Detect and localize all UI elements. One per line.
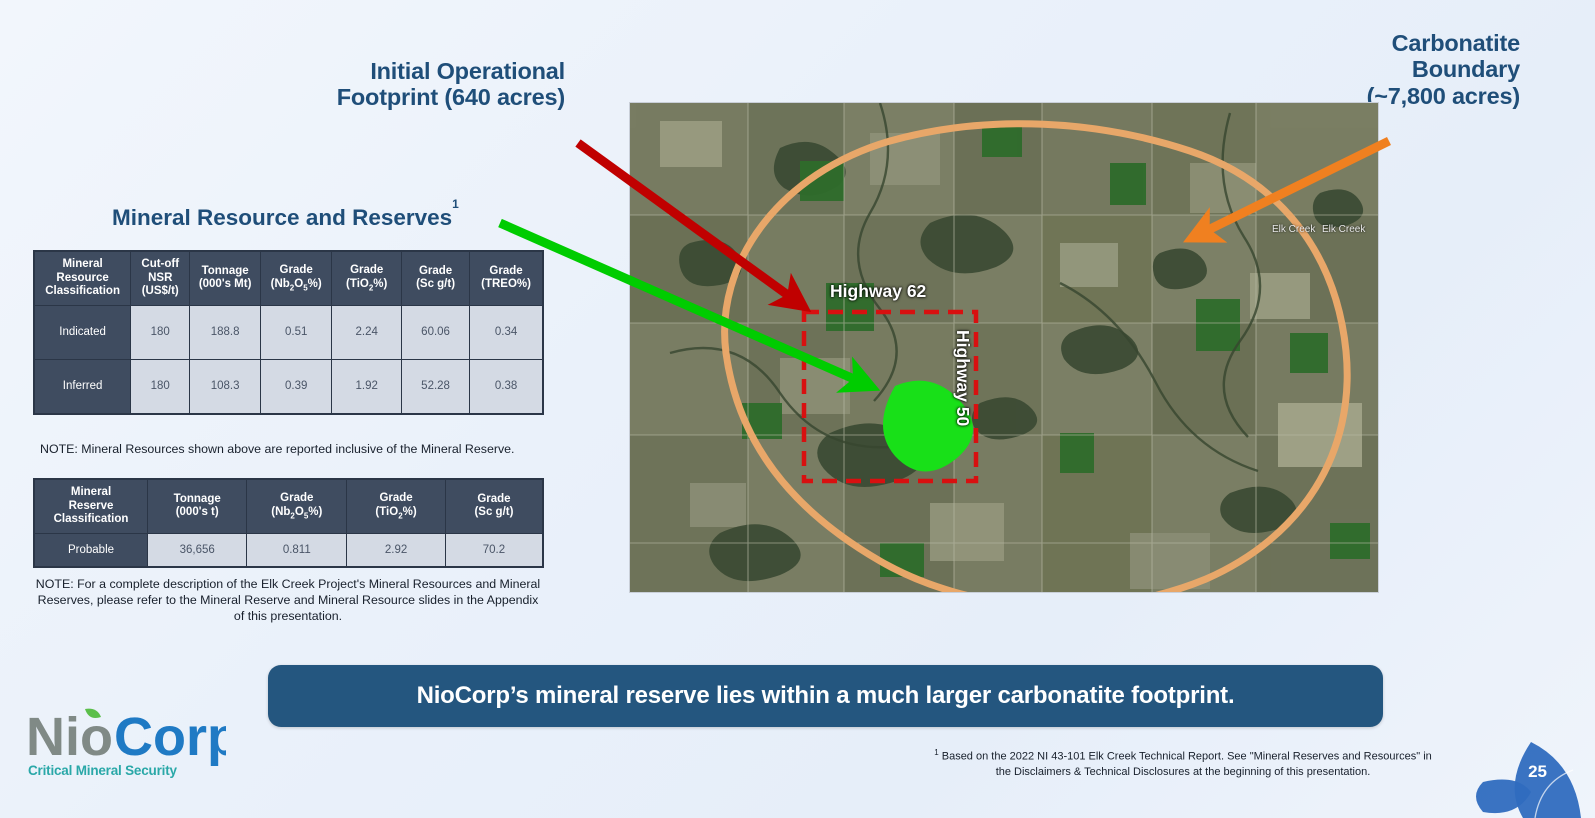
cell-treo: 0.38 [470,359,543,414]
col-grade-nb2o5: Grade(Nb2O5%) [247,479,347,533]
table-header-row: MineralReserveClassification Tonnage(000… [34,479,543,533]
page-number: 25 [1528,762,1547,782]
logo-corp: Corp [114,707,226,767]
footnote-text: Based on the 2022 NI 43-101 Elk Creek Te… [942,751,1432,778]
col-tonnage: Tonnage(000's Mt) [190,251,261,305]
resource-table-note: NOTE: Mineral Resources shown above are … [40,441,560,457]
col-cutoff-nsr: Cut-offNSR(US$/t) [131,251,190,305]
summary-banner-text: NioCorp’s mineral reserve lies within a … [417,682,1235,710]
mineral-resource-table: MineralResourceClassification Cut-offNSR… [33,250,544,415]
cell-classification: Indicated [34,305,131,359]
cell-sc: 52.28 [402,359,470,414]
cell-cutoff-nsr: 180 [131,305,190,359]
cell-tio2: 2.92 [347,533,446,567]
cell-classification: Inferred [34,359,131,414]
map-label-highway-62: Highway 62 [830,281,926,302]
map-label-elk-creek-1: Elk Creek [1272,224,1315,235]
cell-nb2o5: 0.39 [260,359,331,414]
carbonatite-boundary-callout: Carbonatite Boundary (~7,800 acres) [1338,30,1520,109]
cell-nb2o5: 0.51 [260,305,331,359]
cell-tonnage: 108.3 [190,359,261,414]
footnote-marker: 1 [934,748,938,757]
cell-cutoff-nsr: 180 [131,359,190,414]
cell-nb2o5: 0.811 [247,533,347,567]
col-classification: MineralReserveClassification [34,479,148,533]
reserve-table-note: NOTE: For a complete description of the … [33,576,543,624]
summary-banner: NioCorp’s mineral reserve lies within a … [268,665,1383,727]
cell-sc: 70.2 [445,533,543,567]
col-tonnage: Tonnage(000's t) [148,479,247,533]
page-title-superscript: 1 [452,197,459,211]
cell-tonnage: 36,656 [148,533,247,567]
table-row: Indicated 180 188.8 0.51 2.24 60.06 0.34 [34,305,543,359]
col-grade-tio2: Grade(TiO2%) [347,479,446,533]
col-grade-sc: Grade(Sc g/t) [402,251,470,305]
satellite-map-figure[interactable] [629,102,1379,593]
col-grade-treo: Grade(TREO%) [470,251,543,305]
initial-footprint-callout: Initial Operational Footprint (640 acres… [300,58,565,111]
col-grade-sc: Grade(Sc g/t) [445,479,543,533]
leaf-large-icon [1515,742,1581,818]
col-grade-tio2: Grade(TiO2%) [332,251,402,305]
cell-classification: Probable [34,533,148,567]
cell-sc: 60.06 [402,305,470,359]
cell-tio2: 2.24 [332,305,402,359]
cell-tio2: 1.92 [332,359,402,414]
table-row: Inferred 180 108.3 0.39 1.92 52.28 0.38 [34,359,543,414]
page-badge-leaf [1435,730,1595,818]
map-label-elk-creek-2: Elk Creek [1322,224,1365,235]
mineral-reserve-table: MineralReserveClassification Tonnage(000… [33,478,544,568]
map-graphic [630,103,1378,592]
logo-tagline: Critical Mineral Security [28,763,177,778]
table-header-row: MineralResourceClassification Cut-offNSR… [34,251,543,305]
footnote: 1 Based on the 2022 NI 43-101 Elk Creek … [933,748,1433,779]
page-title-text: Mineral Resource and Reserves [112,205,452,230]
map-label-highway-50: Highway 50 [952,330,973,426]
page-title: Mineral Resource and Reserves1 [112,205,459,231]
col-classification: MineralResourceClassification [34,251,131,305]
col-grade-nb2o5: Grade(Nb2O5%) [260,251,331,305]
table-row: Probable 36,656 0.811 2.92 70.2 [34,533,543,567]
cell-treo: 0.34 [470,305,543,359]
cell-tonnage: 188.8 [190,305,261,359]
